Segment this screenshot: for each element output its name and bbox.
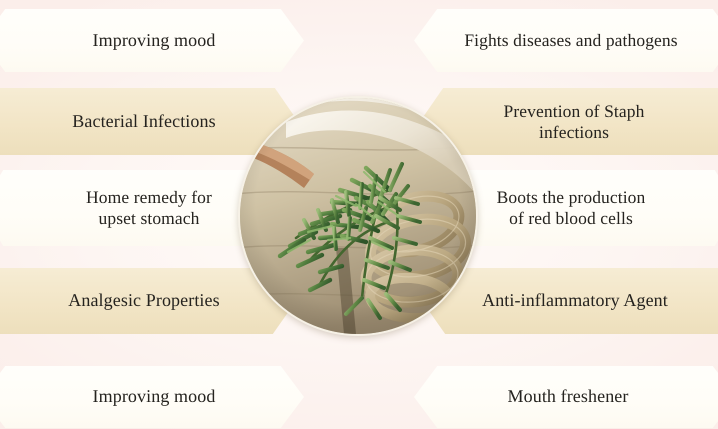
benefit-label: Analgesic Properties (24, 290, 245, 311)
benefit-banner-right-5: Mouth freshener (414, 366, 718, 428)
benefit-label: Improving mood (45, 386, 242, 407)
benefit-label: Mouth freshener (482, 386, 669, 407)
benefit-banner-right-4: Anti-inflammatory Agent (422, 268, 718, 334)
benefit-banner-left-4: Analgesic Properties (0, 268, 296, 334)
benefit-label: Boots the productionof red blood cells (471, 187, 684, 228)
benefit-label: Prevention of Staphinfections (478, 101, 685, 142)
benefit-label: Home remedy forupset stomach (44, 187, 238, 228)
benefit-banner-left-5: Improving mood (0, 366, 304, 428)
benefit-banner-left-2: Bacterial Infections (0, 88, 298, 155)
rosemary-photo (238, 96, 478, 336)
benefit-label: Improving mood (45, 30, 242, 51)
benefit-banner-right-1: Fights diseases and pathogens (414, 9, 718, 72)
benefit-label: Bacterial Infections (32, 111, 241, 132)
benefit-label: Anti-inflammatory Agent (456, 290, 710, 311)
benefit-banner-right-2: Prevention of Staphinfections (420, 88, 718, 155)
infographic-canvas: Improving mood Fights diseases and patho… (0, 0, 718, 429)
benefit-label: Fights diseases and pathogens (438, 30, 711, 51)
benefit-banner-left-1: Improving mood (0, 9, 304, 72)
